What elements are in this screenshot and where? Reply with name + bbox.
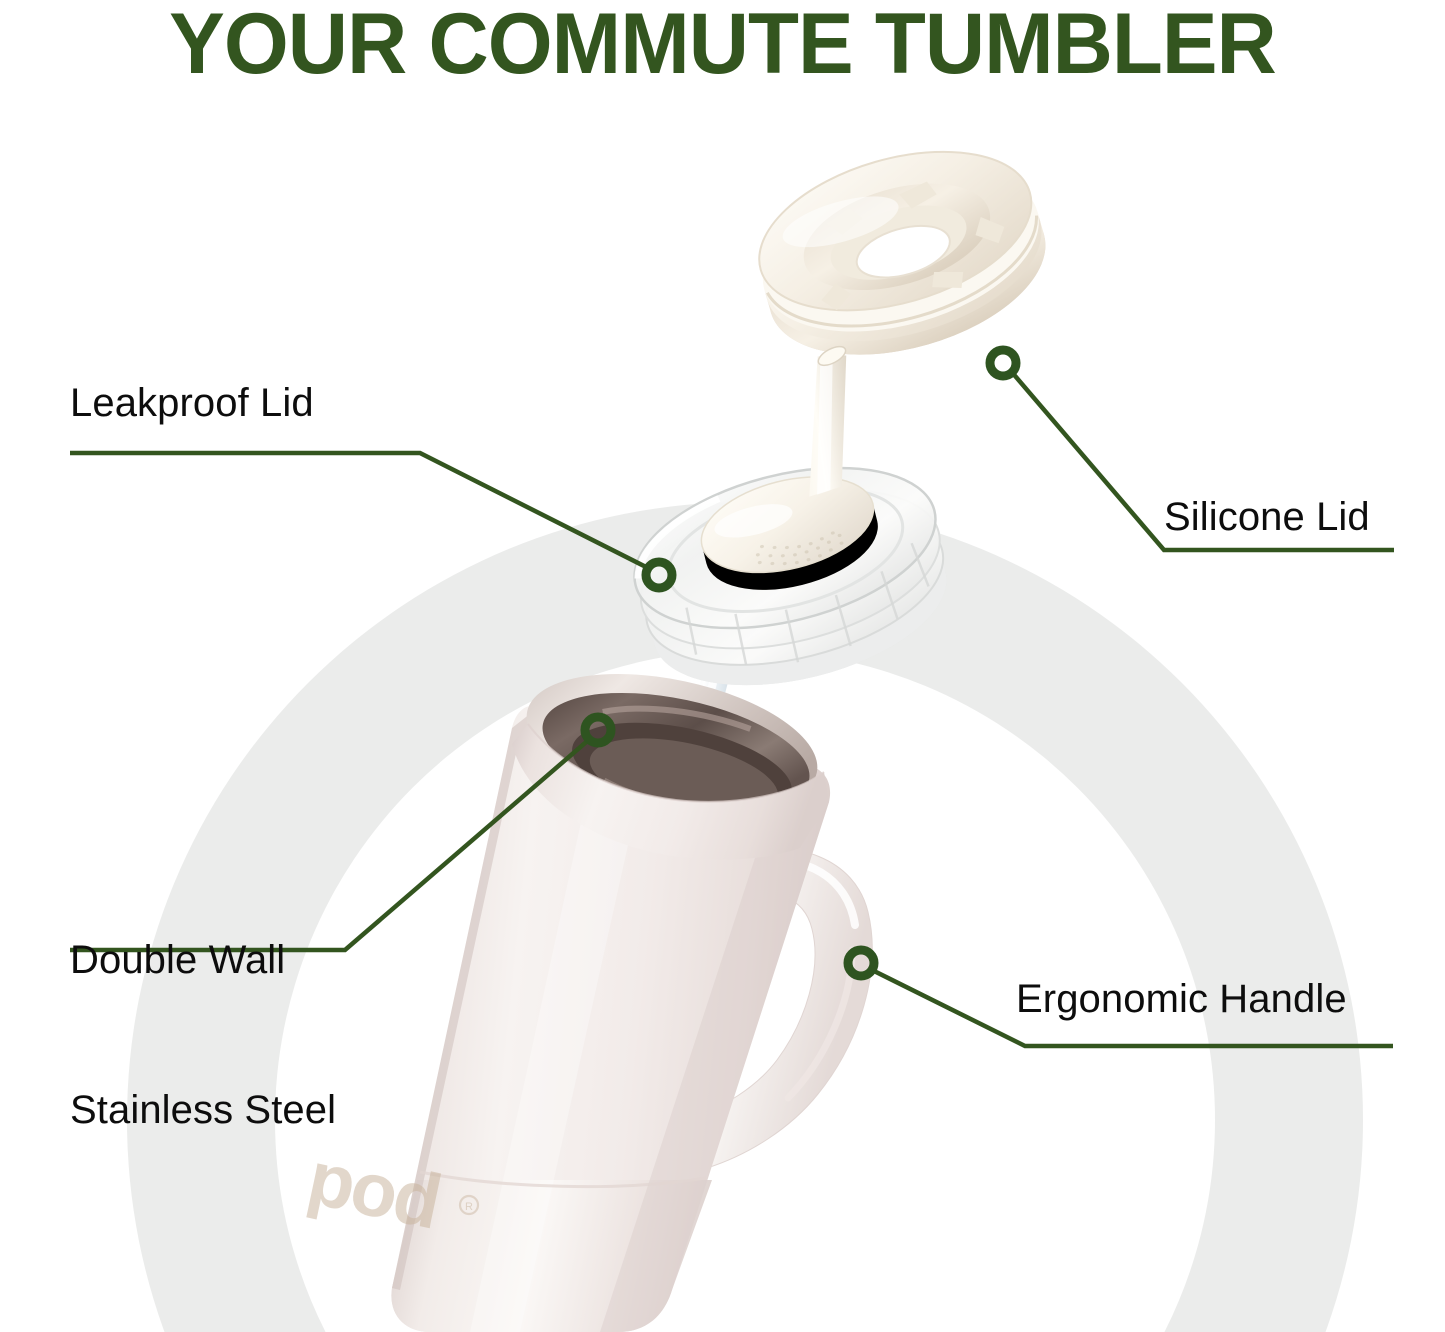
callout-label-ergonomic-handle: Ergonomic Handle (1016, 974, 1347, 1024)
callout-label-line-2: Stainless Steel (70, 1085, 336, 1135)
silicone-lid-part (739, 123, 1064, 384)
callout-label-leakproof-lid: Leakproof Lid (70, 378, 314, 428)
callout-label-line-1: Double Wall (70, 935, 336, 985)
callout-label-silicone-lid: Silicone Lid (1164, 492, 1370, 542)
page-title: YOUR COMMUTE TUMBLER (22, 0, 1424, 90)
callout-label-double-wall-stainless-steel: Double Wall Stainless Steel (70, 835, 336, 1235)
svg-text:R: R (465, 1201, 473, 1213)
infographic-canvas: pod R (0, 0, 1445, 1332)
marker-silicone-lid (990, 350, 1016, 376)
